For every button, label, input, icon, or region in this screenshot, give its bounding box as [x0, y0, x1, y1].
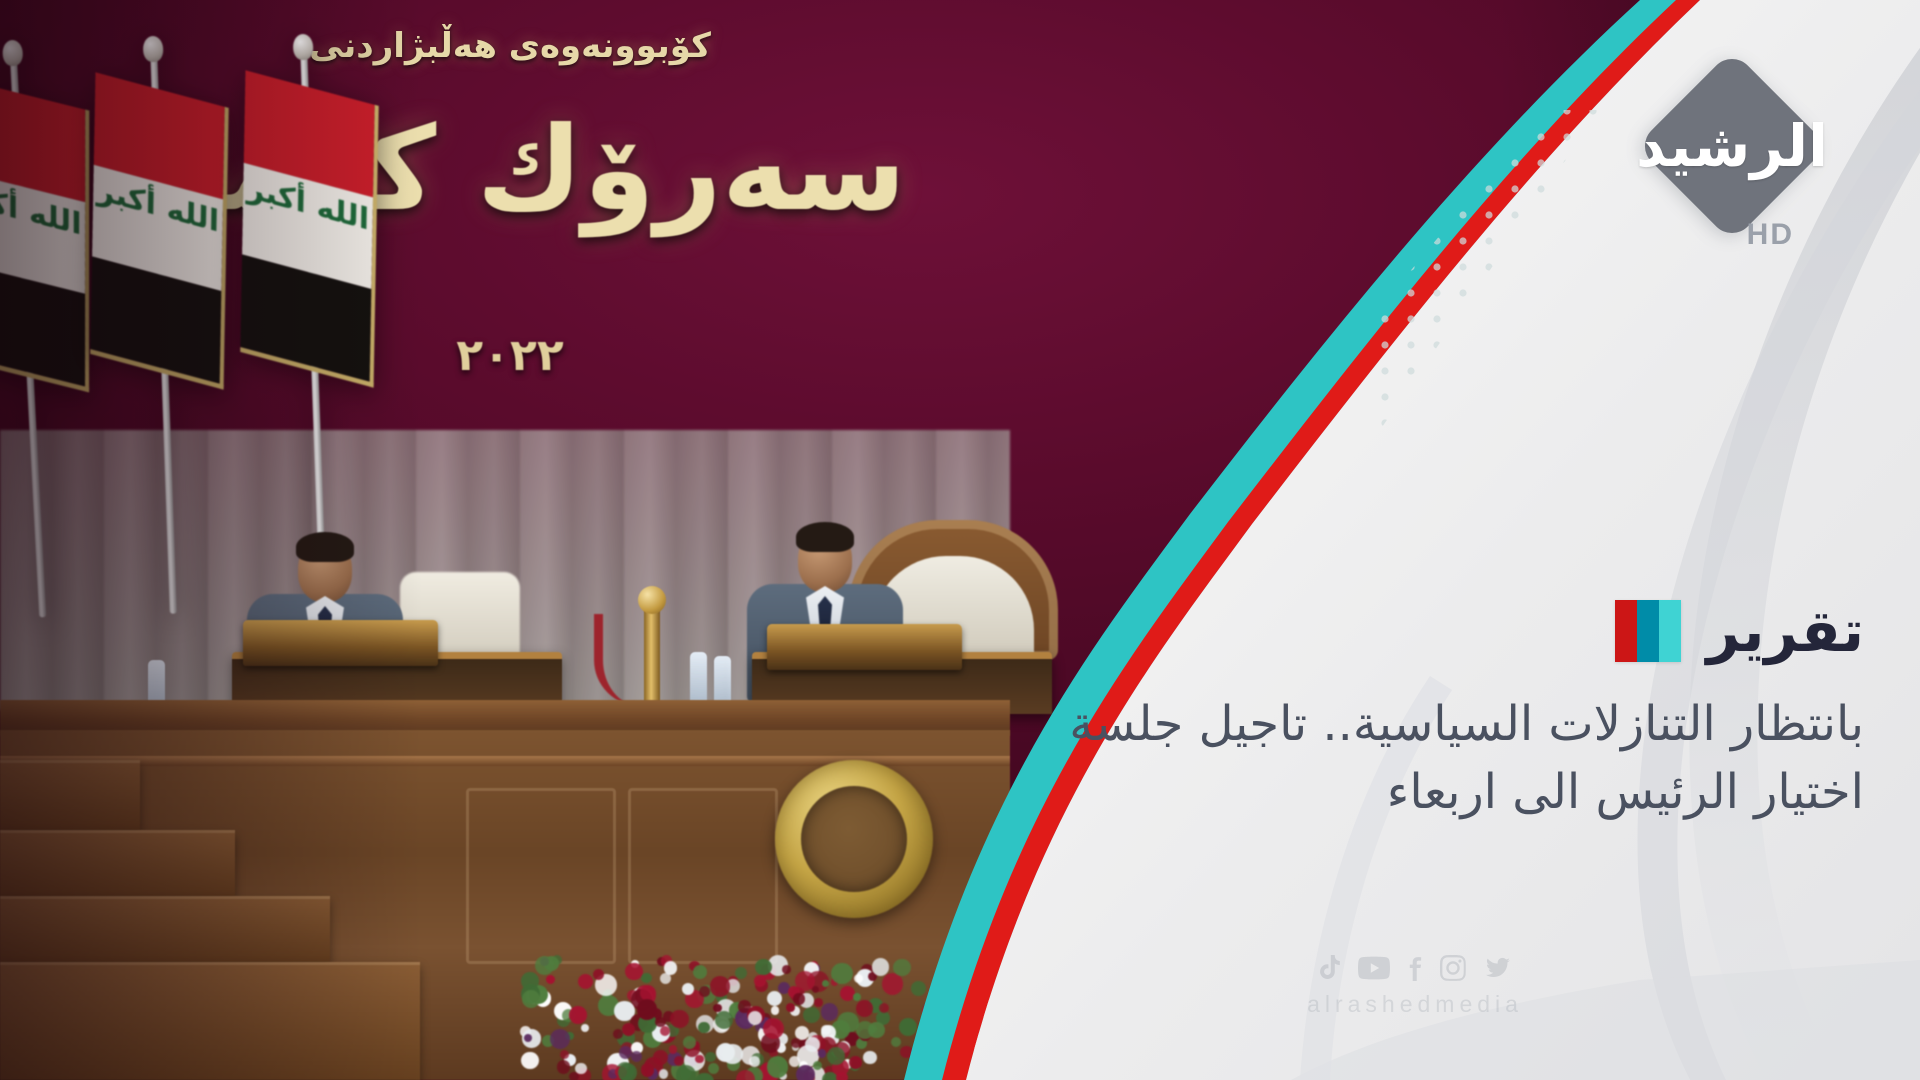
twitter-icon[interactable] [1483, 955, 1513, 981]
logo-script-text: الرشيد [1664, 78, 1800, 214]
headline-line-1: بانتظار التنازلات السياسية.. تاجيل جلسة [984, 690, 1864, 758]
social-footer: alrashedmedia [910, 955, 1920, 1018]
headline: بانتظار التنازلات السياسية.. تاجيل جلسة … [984, 690, 1864, 826]
tiktok-icon[interactable] [1318, 955, 1341, 981]
overlay-content: الرشيد HD تقرير بانتظار التنازلات السياس… [910, 0, 1920, 1080]
broadcast-frame: کۆبوونەوەی هەڵبژاردنی سەرۆك كۆمار ٢٠٢٢ ا… [0, 0, 1920, 1080]
kicker-row: تقرير [1615, 600, 1864, 662]
bar-segment-teal-light [1659, 600, 1681, 662]
kicker-label: تقرير [1707, 602, 1864, 660]
bar-segment-teal-dark [1637, 600, 1659, 662]
tricolor-bar [1615, 600, 1681, 662]
facebook-icon[interactable] [1407, 955, 1423, 981]
hd-badge: HD [1747, 218, 1794, 252]
instagram-icon[interactable] [1440, 955, 1466, 981]
social-handle: alrashedmedia [1307, 991, 1523, 1018]
headline-line-2: اختيار الرئيس الى اربعاء [984, 758, 1864, 826]
social-icon-row [1318, 955, 1513, 981]
youtube-icon[interactable] [1358, 956, 1390, 980]
channel-logo: الرشيد HD [1664, 78, 1800, 214]
bar-segment-red [1615, 600, 1637, 662]
